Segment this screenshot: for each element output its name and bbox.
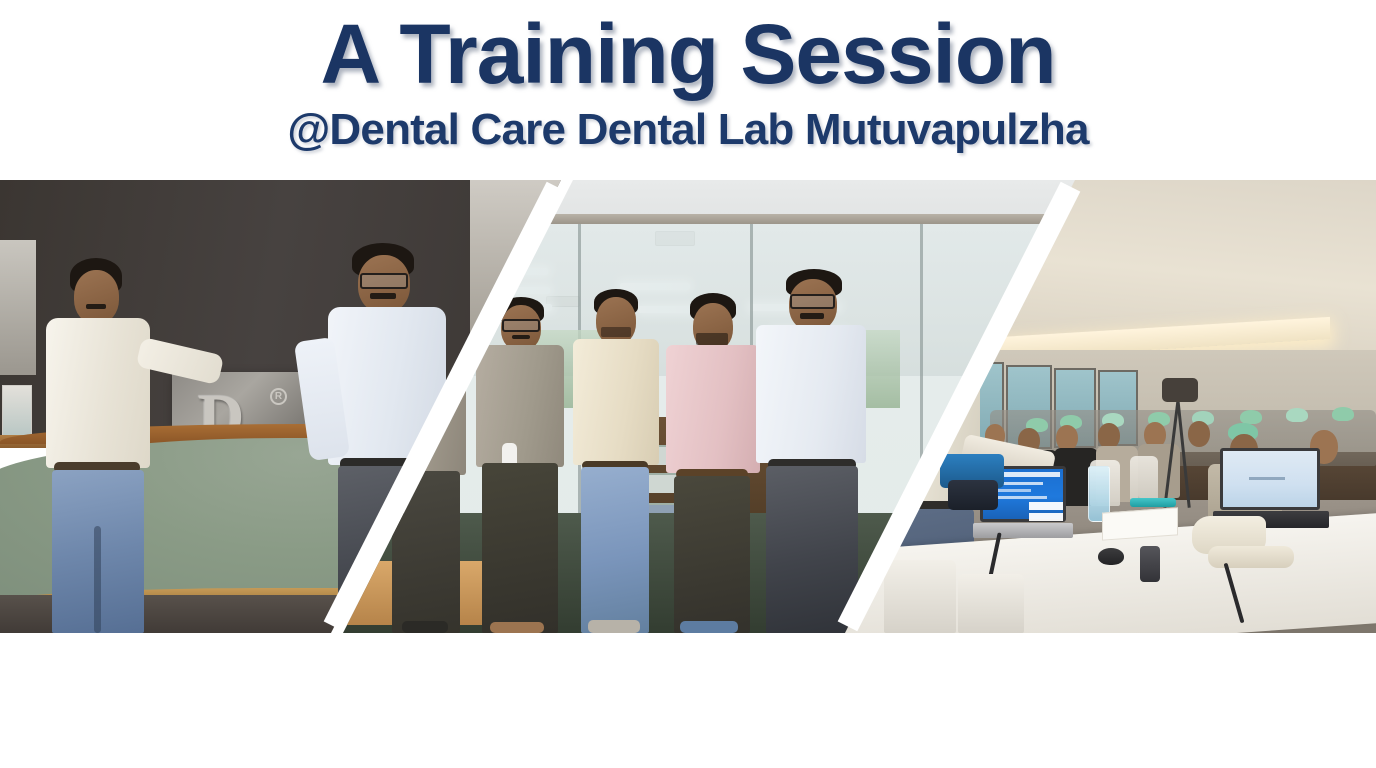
audience-face bbox=[1188, 421, 1210, 447]
poster-root: A Training Session @Dental Care Dental L… bbox=[0, 0, 1376, 768]
head bbox=[596, 297, 636, 345]
person-visitor-pink-shirt bbox=[660, 293, 764, 633]
pink-shirt bbox=[666, 345, 760, 473]
moustache bbox=[512, 335, 530, 339]
person-senior-white-shirt bbox=[752, 269, 876, 633]
photo-strip: D R DentCare bbox=[0, 180, 1376, 633]
uniform-shirt bbox=[476, 345, 564, 467]
black-bag bbox=[948, 480, 998, 510]
model-arm bbox=[1208, 546, 1294, 568]
jeans-leg-gap bbox=[94, 526, 101, 633]
moustache bbox=[370, 293, 396, 299]
surgical-cap bbox=[1286, 408, 1308, 422]
bare-feet bbox=[490, 622, 544, 633]
laptop-left-keyboard bbox=[973, 523, 1073, 538]
surgical-cap bbox=[1332, 407, 1354, 421]
page-title: A Training Session bbox=[0, 12, 1376, 96]
surgical-cap bbox=[1240, 410, 1262, 424]
mobile-phone bbox=[1140, 546, 1160, 582]
white-shirt bbox=[756, 325, 866, 463]
stacking-chair-1 bbox=[884, 560, 956, 633]
camera-head bbox=[1162, 378, 1198, 402]
marker-pen bbox=[1130, 498, 1176, 507]
shoes bbox=[680, 621, 738, 633]
eyeglasses-icon bbox=[360, 273, 408, 289]
socks bbox=[588, 620, 640, 633]
shirt bbox=[46, 318, 150, 468]
stacking-chair-2 bbox=[958, 574, 1024, 633]
papers bbox=[1102, 507, 1178, 540]
cream-shirt bbox=[573, 339, 659, 465]
sandals bbox=[402, 621, 448, 633]
beard bbox=[696, 333, 728, 345]
person-man-white-shirt bbox=[30, 258, 160, 633]
head bbox=[74, 270, 119, 324]
footer-whitespace bbox=[0, 633, 1376, 768]
computer-mouse bbox=[1098, 548, 1124, 565]
registered-trademark-icon: R bbox=[270, 388, 287, 405]
beard bbox=[601, 327, 631, 337]
eyeglasses-icon bbox=[502, 319, 540, 332]
person-visitor-cream-shirt bbox=[568, 289, 664, 633]
page-subtitle: @Dental Care Dental Lab Mutuvapulzha bbox=[0, 108, 1376, 152]
trousers bbox=[482, 463, 558, 633]
eyeglasses-icon bbox=[790, 294, 835, 309]
reception-brochure bbox=[2, 385, 32, 437]
jeans bbox=[581, 467, 649, 633]
audience-chair bbox=[1130, 456, 1158, 500]
moustache bbox=[86, 304, 106, 309]
poster-header: A Training Session @Dental Care Dental L… bbox=[0, 0, 1376, 180]
laptop-right-screen bbox=[1220, 448, 1320, 510]
trousers bbox=[674, 476, 750, 633]
moustache bbox=[800, 313, 824, 319]
